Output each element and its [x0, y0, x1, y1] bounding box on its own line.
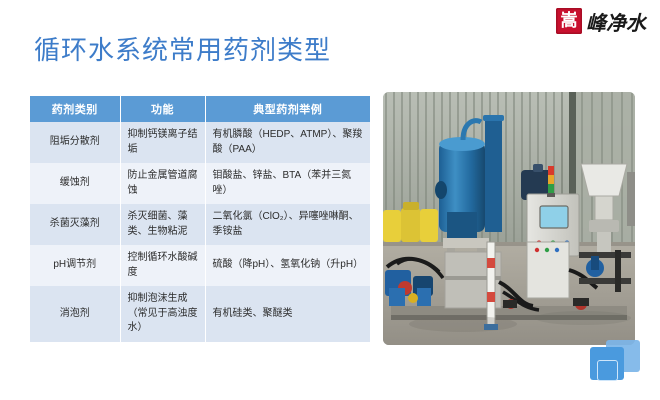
- decoration-square-inner: [597, 360, 618, 381]
- equipment-photo-illustration: [383, 92, 635, 345]
- brand-logo: 嵩 峰净水: [556, 6, 646, 36]
- cell-examples: 钼酸盐、锌盐、BTA（苯并三氮唑）: [205, 163, 370, 204]
- table-header: 药剂类别 功能 典型药剂举例: [30, 96, 370, 122]
- cell-examples: 硫酸（降pH）、氢氧化钠（升pH）: [205, 245, 370, 286]
- cell-function: 杀灭细菌、藻类、生物粘泥: [120, 204, 205, 245]
- cell-category: pH调节剂: [30, 245, 120, 286]
- table-header-row: 药剂类别 功能 典型药剂举例: [30, 96, 370, 122]
- equipment-photo: [383, 92, 635, 345]
- agents-table-container: 药剂类别 功能 典型药剂举例 阻垢分散剂 抑制钙镁离子结垢 有机膦酸（HEDP、…: [30, 96, 370, 342]
- cell-function: 抑制钙镁离子结垢: [120, 122, 205, 163]
- table-row: pH调节剂 控制循环水酸碱度 硫酸（降pH）、氢氧化钠（升pH）: [30, 245, 370, 286]
- cell-examples: 二氧化氯（ClO₂）、异噻唑啉酮、季铵盐: [205, 204, 370, 245]
- column-header-function: 功能: [120, 96, 205, 122]
- slide-root: 嵩 峰净水 循环水系统常用药剂类型 药剂类别 功能 典型药剂举例 阻垢分散剂 抑…: [0, 0, 660, 400]
- cell-function: 抑制泡沫生成（常见于高浊度水）: [120, 286, 205, 342]
- cell-category: 缓蚀剂: [30, 163, 120, 204]
- decoration-square-front: [590, 347, 624, 380]
- table-row: 杀菌灭藻剂 杀灭细菌、藻类、生物粘泥 二氧化氯（ClO₂）、异噻唑啉酮、季铵盐: [30, 204, 370, 245]
- table-row: 消泡剂 抑制泡沫生成（常见于高浊度水） 有机硅类、聚醚类: [30, 286, 370, 342]
- page-title: 循环水系统常用药剂类型: [34, 30, 331, 67]
- cell-function: 控制循环水酸碱度: [120, 245, 205, 286]
- table-row: 阻垢分散剂 抑制钙镁离子结垢 有机膦酸（HEDP、ATMP）、聚羧酸（PAA）: [30, 122, 370, 163]
- column-header-examples: 典型药剂举例: [205, 96, 370, 122]
- agents-table: 药剂类别 功能 典型药剂举例 阻垢分散剂 抑制钙镁离子结垢 有机膦酸（HEDP、…: [30, 96, 370, 342]
- table-row: 缓蚀剂 防止金属管道腐蚀 钼酸盐、锌盐、BTA（苯并三氮唑）: [30, 163, 370, 204]
- cell-category: 杀菌灭藻剂: [30, 204, 120, 245]
- table-body: 阻垢分散剂 抑制钙镁离子结垢 有机膦酸（HEDP、ATMP）、聚羧酸（PAA） …: [30, 122, 370, 342]
- cell-category: 消泡剂: [30, 286, 120, 342]
- brand-stamp-icon: 嵩: [556, 8, 582, 34]
- column-header-category: 药剂类别: [30, 96, 120, 122]
- corner-decoration: [590, 340, 642, 382]
- cell-examples: 有机硅类、聚醚类: [205, 286, 370, 342]
- cell-category: 阻垢分散剂: [30, 122, 120, 163]
- cell-examples: 有机膦酸（HEDP、ATMP）、聚羧酸（PAA）: [205, 122, 370, 163]
- cell-function: 防止金属管道腐蚀: [120, 163, 205, 204]
- brand-name: 峰净水: [584, 7, 646, 36]
